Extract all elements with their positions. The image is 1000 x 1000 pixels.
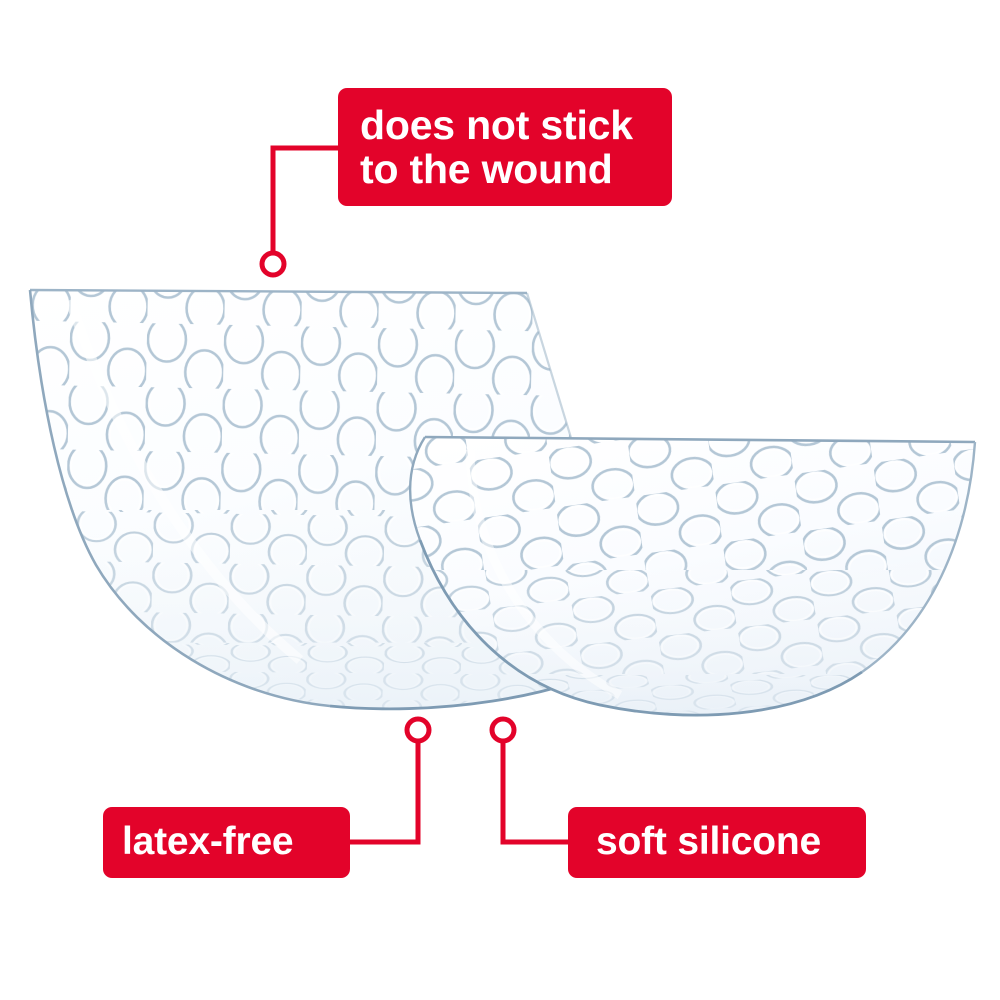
callout-badges: does not stick to the wound latex-free s…: [0, 0, 1000, 1000]
callout-badge-does-not-stick: does not stick to the wound: [338, 88, 672, 206]
infographic-canvas: does not stick to the wound latex-free s…: [0, 0, 1000, 1000]
callout-badge-soft-silicone: soft silicone: [568, 807, 866, 878]
callout-label-soft-silicone: soft silicone: [596, 821, 821, 863]
callout-label-latex-free: latex-free: [122, 821, 293, 863]
callout-label-does-not-stick: does not stick to the wound: [360, 103, 633, 192]
callout-badge-latex-free: latex-free: [103, 807, 350, 878]
